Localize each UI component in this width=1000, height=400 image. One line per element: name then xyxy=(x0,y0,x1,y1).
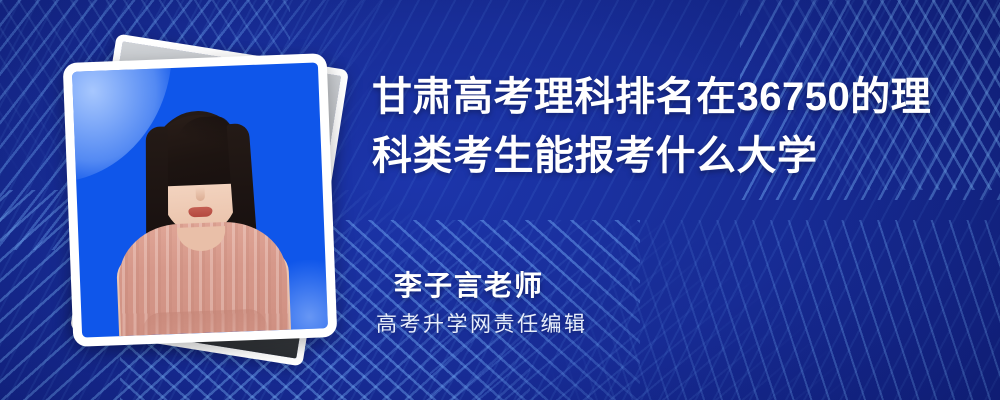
photo-stack xyxy=(52,40,352,370)
photo-card-front xyxy=(63,53,338,347)
dress xyxy=(117,220,289,336)
article-banner: 甘肃高考理科排名在36750的理科类考生能报考什么大学 李子言老师 高考升学网责… xyxy=(0,0,1000,400)
lips xyxy=(188,207,212,218)
portrait-photo xyxy=(72,62,328,337)
banner-content: 甘肃高考理科排名在36750的理科类考生能报考什么大学 李子言老师 高考升学网责… xyxy=(372,0,972,400)
author-name: 李子言老师 xyxy=(394,268,954,303)
headline-title: 甘肃高考理科排名在36750的理科类考生能报考什么大学 xyxy=(372,68,952,186)
byline: 李子言老师 高考升学网责任编辑 xyxy=(394,268,954,338)
portrait-figure xyxy=(72,62,328,337)
nose xyxy=(196,187,206,201)
dress-waist xyxy=(142,309,267,336)
author-role: 高考升学网责任编辑 xyxy=(376,311,954,338)
